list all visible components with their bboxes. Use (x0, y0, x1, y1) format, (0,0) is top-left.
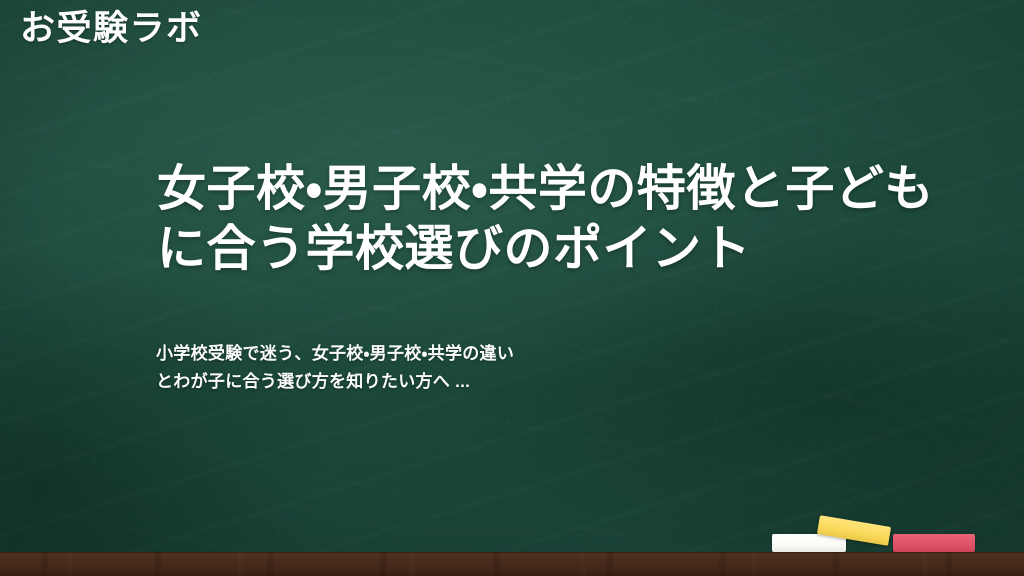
site-logo[interactable]: お受験ラボ (20, 8, 203, 50)
red-chalk-icon (893, 534, 975, 552)
ledge-wood-grain (0, 552, 1024, 576)
subtitle-line-2: とわが子に合う選び方を知りたい方へ ... (156, 368, 776, 396)
page-title: 女子校・男子校・共学の特徴と子どもに合う学校選びのポイント (157, 160, 957, 280)
chalk-ledge (0, 552, 1024, 576)
subtitle-block: 小学校受験で迷う、女子校・男子校・共学の違い とわが子に合う選び方を知りたい方へ… (156, 340, 776, 395)
blackboard-title-card: お受験ラボ 女子校・男子校・共学の特徴と子どもに合う学校選びのポイント 小学校受… (0, 0, 1024, 576)
title-block: 女子校・男子校・共学の特徴と子どもに合う学校選びのポイント (157, 160, 957, 280)
subtitle-line-1: 小学校受験で迷う、女子校・男子校・共学の違い (156, 340, 776, 368)
